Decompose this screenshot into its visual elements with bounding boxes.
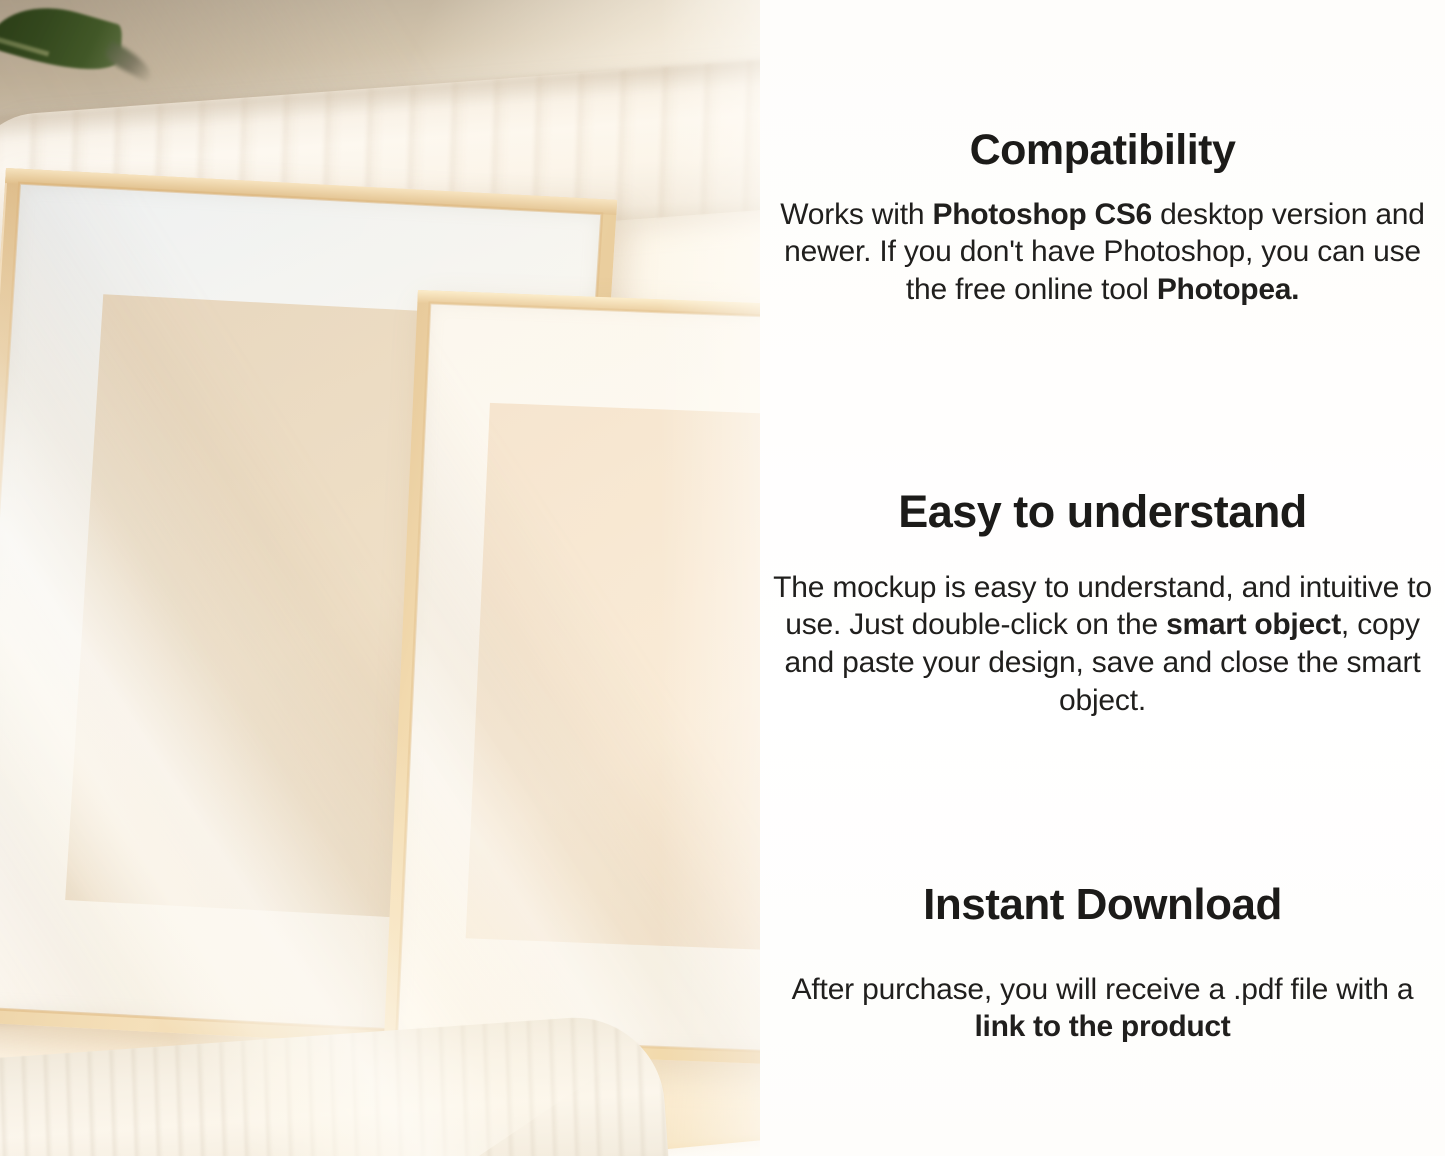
compatibility-body-part-1: Works with (780, 198, 932, 231)
easy-to-understand-heading: Easy to understand (760, 488, 1445, 536)
feature-block-easy-to-understand: Easy to understand The mockup is easy to… (760, 488, 1445, 720)
compatibility-body-part-2: Photoshop CS6 (933, 198, 1152, 231)
compatibility-body-part-4: Photopea. (1157, 273, 1299, 306)
feature-block-compatibility: Compatibility Works with Photoshop CS6 d… (760, 128, 1445, 309)
instant-body-part-1: After purchase, you will receive a .pdf … (792, 973, 1414, 1006)
easy-body-part-2: smart object (1166, 608, 1341, 641)
instant-download-heading: Instant Download (760, 882, 1445, 929)
mockup-listing-image: Compatibility Works with Photoshop CS6 d… (0, 0, 1445, 1156)
instant-download-body: After purchase, you will receive a .pdf … (760, 971, 1445, 1047)
easy-to-understand-body: The mockup is easy to understand, and in… (760, 569, 1445, 720)
compatibility-body: Works with Photoshop CS6 desktop version… (760, 196, 1445, 309)
instant-body-part-2: link to the product (975, 1010, 1231, 1043)
feature-block-instant-download: Instant Download After purchase, you wil… (760, 882, 1445, 1046)
feature-text-panel: Compatibility Works with Photoshop CS6 d… (760, 0, 1445, 1156)
compatibility-heading: Compatibility (760, 128, 1445, 174)
